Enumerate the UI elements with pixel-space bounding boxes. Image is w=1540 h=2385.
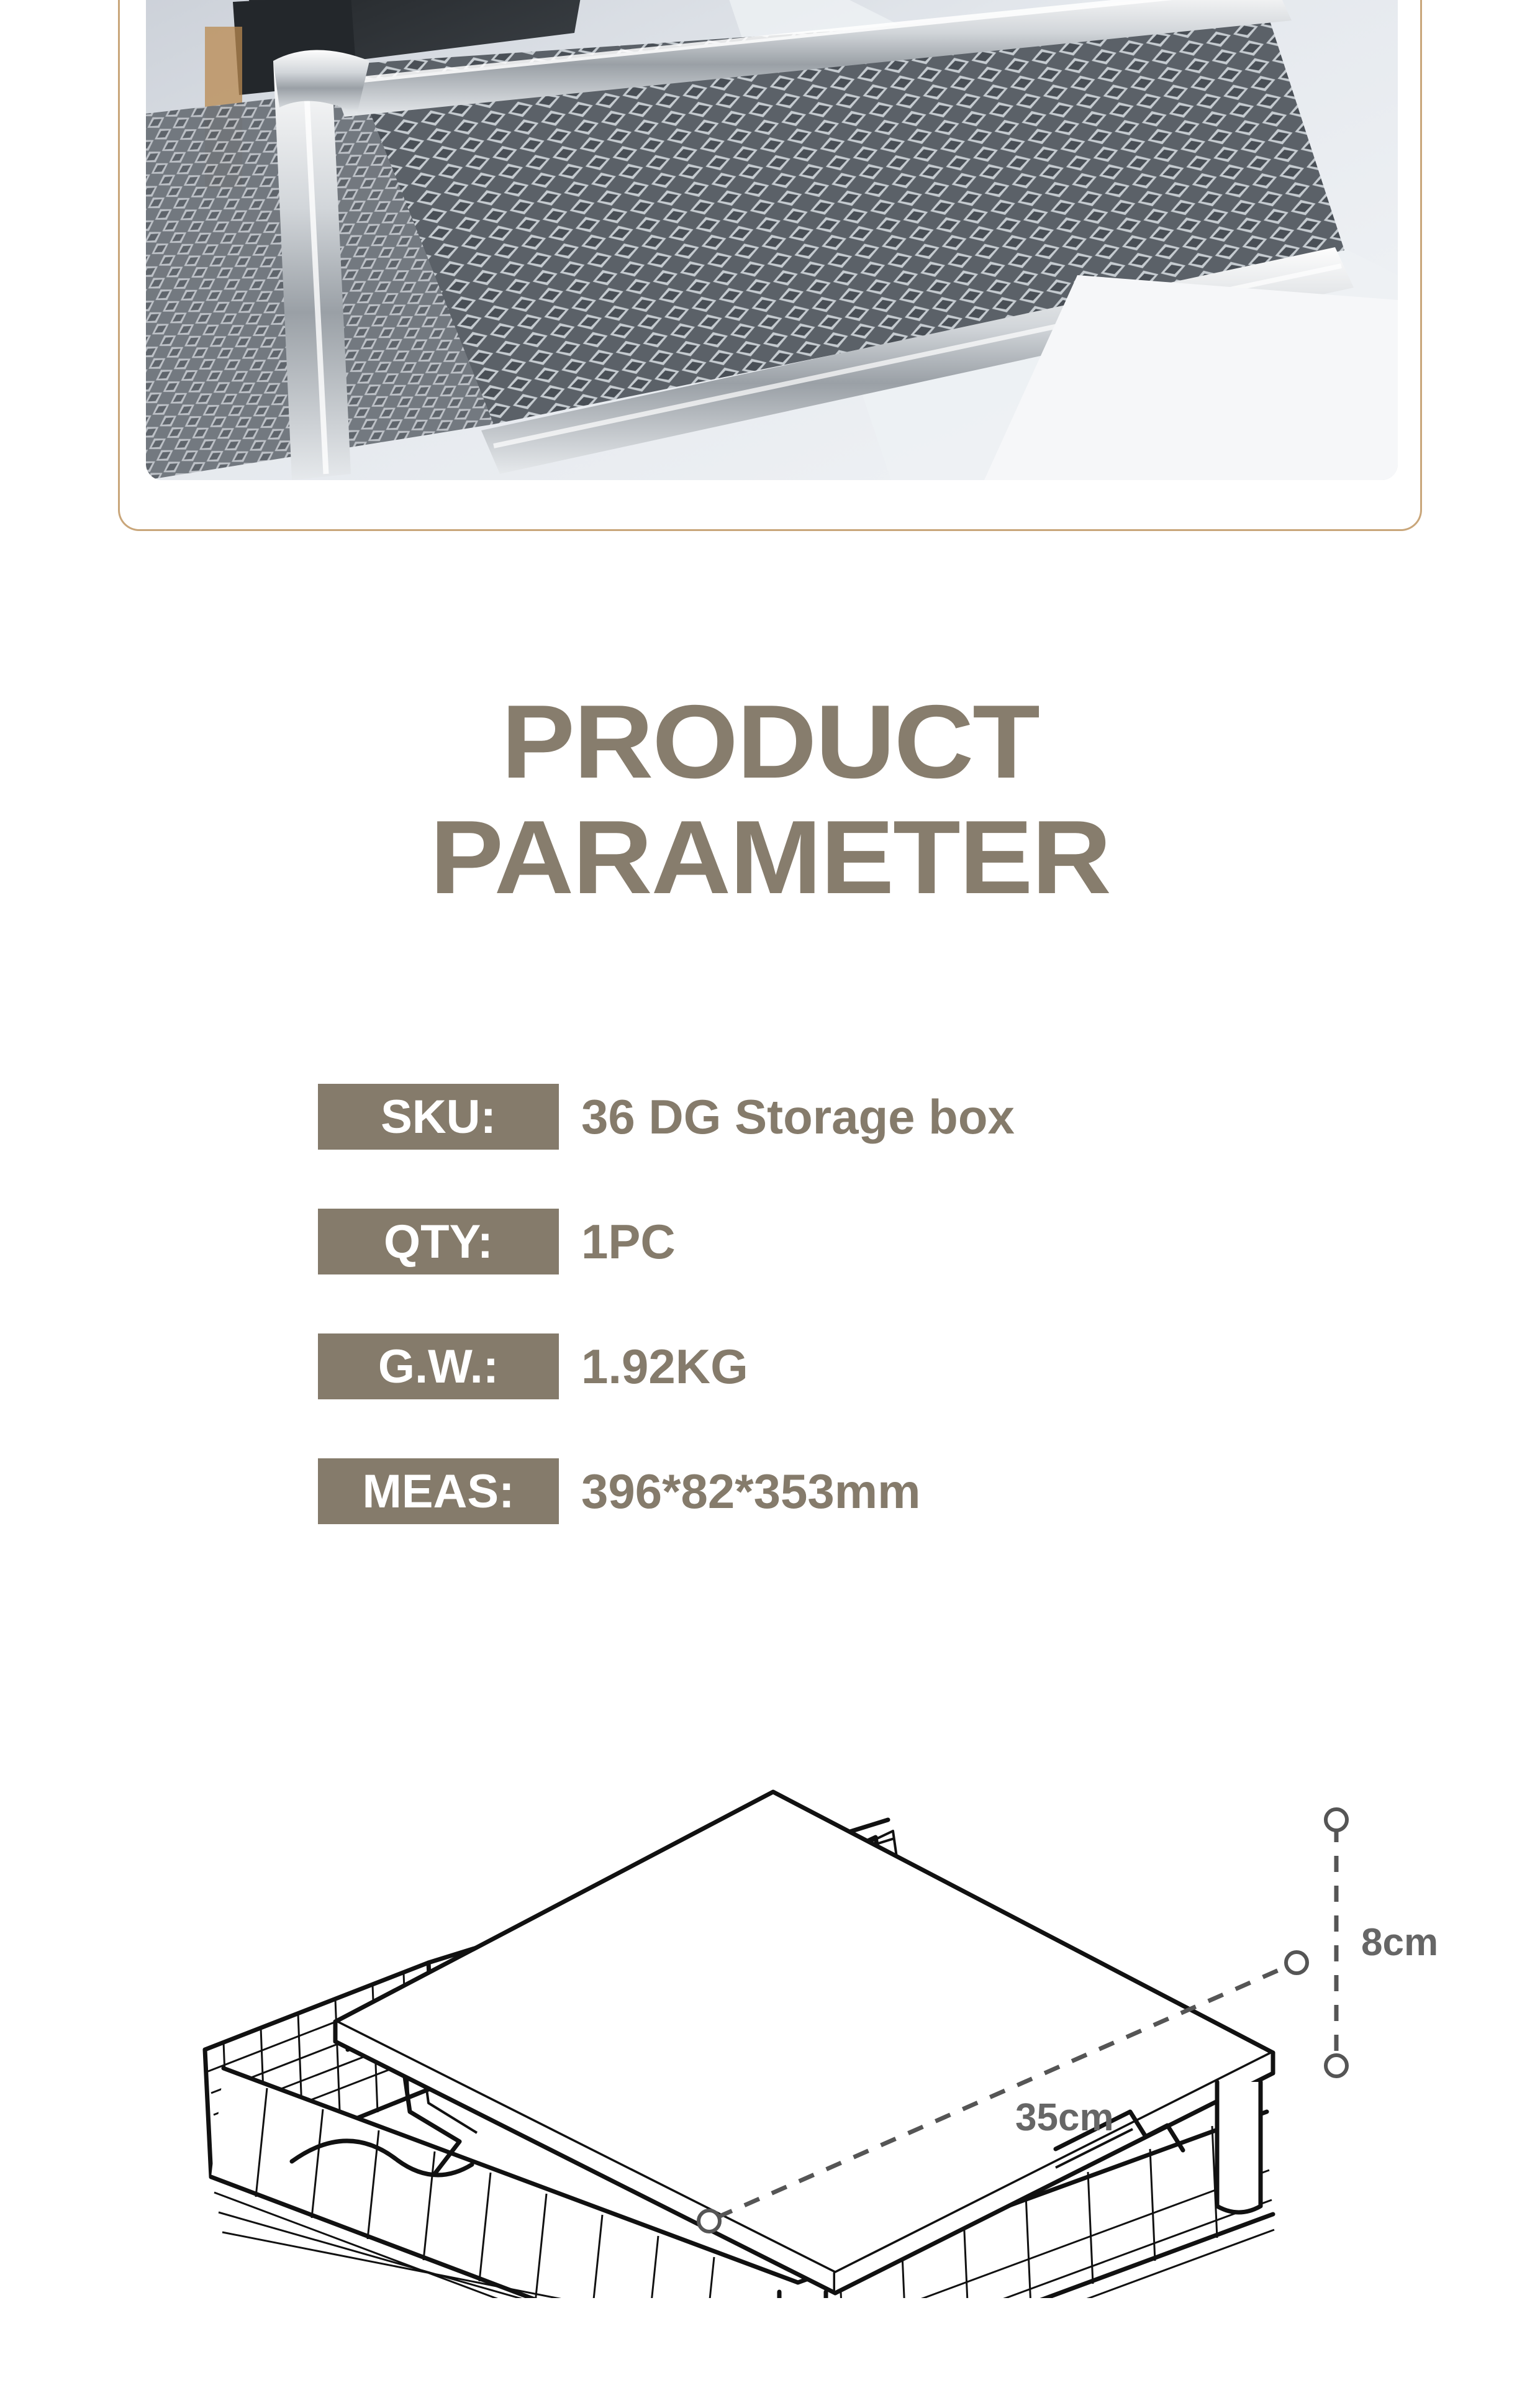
- product-photo: [146, 0, 1398, 480]
- depth-dimension-end-right: [1286, 1952, 1307, 1973]
- spec-row-meas: MEAS: 396*82*353mm: [318, 1458, 1015, 1525]
- product-parameter-list: SKU: 36 DG Storage box QTY: 1PC G.W.: 1.…: [318, 1083, 1015, 1583]
- spec-label-sku: SKU:: [318, 1084, 559, 1150]
- height-dimension-end-top: [1326, 1809, 1347, 1830]
- spec-row-qty: QTY: 1PC: [318, 1208, 1015, 1275]
- page-title-line-2: PARAMETER: [0, 805, 1540, 909]
- height-dimension-end-bottom: [1326, 2055, 1347, 2076]
- depth-dimension-end-left: [699, 2210, 720, 2232]
- spec-label-gw: G.W.:: [318, 1333, 559, 1399]
- product-photo-frame: [118, 0, 1422, 531]
- mesh-basket-illustration: [146, 0, 1398, 480]
- spec-row-gw: G.W.: 1.92KG: [318, 1333, 1015, 1400]
- depth-dimension-label: 35cm: [1015, 2096, 1114, 2139]
- page-title-line-1: PRODUCT: [0, 689, 1540, 794]
- isometric-box-drawing: 8cm 35cm: [0, 1615, 1540, 2298]
- product-line-drawing: 8cm 35cm: [0, 1615, 1540, 2298]
- spec-row-sku: SKU: 36 DG Storage box: [318, 1083, 1015, 1150]
- page-title: PRODUCT PARAMETER: [0, 689, 1540, 909]
- spec-value-gw: 1.92KG: [581, 1342, 748, 1391]
- spec-value-qty: 1PC: [581, 1217, 676, 1266]
- spec-value-meas: 396*82*353mm: [581, 1467, 920, 1515]
- spec-label-meas: MEAS:: [318, 1458, 559, 1524]
- spec-value-sku: 36 DG Storage box: [581, 1093, 1015, 1141]
- spec-label-qty: QTY:: [318, 1209, 559, 1274]
- height-dimension-label: 8cm: [1361, 1921, 1438, 1964]
